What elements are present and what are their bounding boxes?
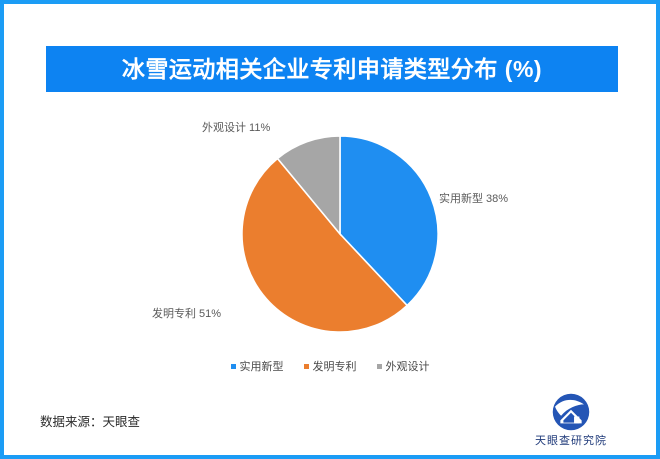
pie-slice-group xyxy=(242,136,438,332)
legend-label-invention: 发明专利 xyxy=(313,358,357,374)
chart-legend: 实用新型 发明专利 外观设计 xyxy=(4,358,656,374)
pie-graphic xyxy=(240,134,440,334)
pie-svg xyxy=(240,134,440,334)
legend-swatch-utility xyxy=(231,364,236,369)
pie-label-utility: 实用新型 38% xyxy=(439,193,508,206)
brand-logo: 天眼查研究院 xyxy=(512,393,630,449)
data-source-note: 数据来源：天眼查 xyxy=(40,411,140,430)
legend-swatch-invention xyxy=(304,364,309,369)
pie-chart: 外观设计 11% 实用新型 38% 发明专利 51% 实用新型 发明专利 外观设… xyxy=(4,100,656,400)
legend-swatch-design xyxy=(377,364,382,369)
chart-title: 冰雪运动相关企业专利申请类型分布 (%) xyxy=(122,58,542,81)
legend-item-invention[interactable]: 发明专利 xyxy=(304,358,357,374)
brand-name: 天眼查研究院 xyxy=(535,432,607,448)
tianyancha-eye-logo-icon xyxy=(552,393,590,431)
legend-label-utility: 实用新型 xyxy=(240,358,284,374)
infographic-canvas: 冰雪运动相关企业专利申请类型分布 (%) 外观设计 11% 实用新型 38% 发… xyxy=(0,0,660,459)
pie-label-invention: 发明专利 51% xyxy=(152,308,221,321)
legend-label-design: 外观设计 xyxy=(386,358,430,374)
legend-item-design[interactable]: 外观设计 xyxy=(377,358,430,374)
pie-label-design: 外观设计 11% xyxy=(202,122,270,135)
chart-title-banner: 冰雪运动相关企业专利申请类型分布 (%) xyxy=(46,46,618,92)
legend-item-utility[interactable]: 实用新型 xyxy=(231,358,284,374)
